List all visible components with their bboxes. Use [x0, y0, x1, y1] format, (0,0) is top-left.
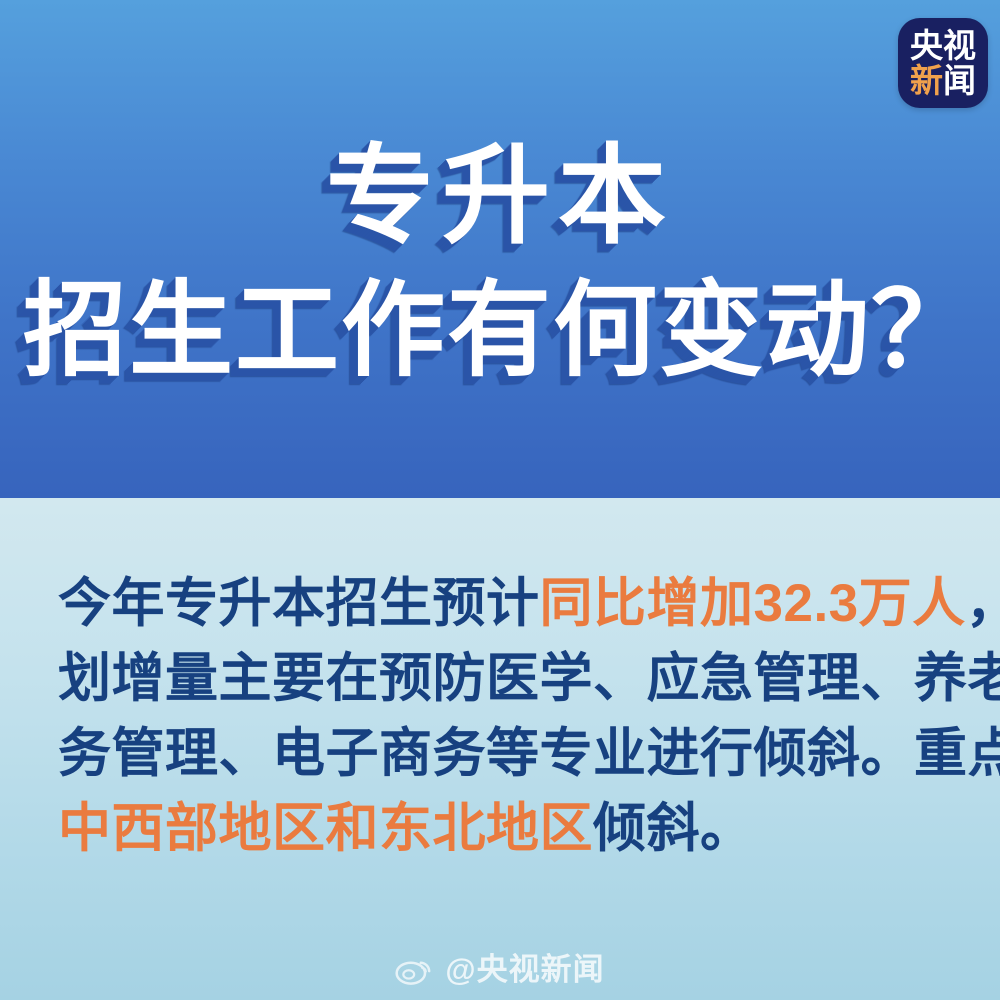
body-plain-text: 倾斜。: [593, 799, 754, 858]
body-plain-text: 务管理、电子商务等专业进行倾斜。重点向: [58, 724, 1000, 783]
body-line-4: 中西部地区和东北地区倾斜。: [58, 791, 958, 866]
watermark: @央视新闻: [0, 952, 1000, 986]
logo-text-xin: 新: [910, 64, 943, 97]
cctv-news-logo[interactable]: 央视 新 闻: [898, 18, 988, 108]
body-plain-text: ，计: [966, 574, 1000, 633]
logo-text-yangshi: 央视: [910, 29, 976, 62]
body-section: 今年专升本招生预计同比增加32.3万人，计划增量主要在预防医学、应急管理、养老服…: [0, 498, 1000, 1000]
body-highlight-text: 同比增加32.3万人: [540, 574, 966, 633]
headline-line-1: 专升本: [326, 136, 674, 257]
body-line-3: 务管理、电子商务等专业进行倾斜。重点向: [58, 716, 958, 791]
poster-canvas: 专升本 招生工作有何变动？ 央视 新 闻 今年专升本招生预计同比增加32.3万人…: [0, 0, 1000, 1000]
logo-bottom-row: 新 闻: [910, 64, 976, 97]
logo-top-row: 央视: [910, 29, 976, 62]
headline-line-2: 招生工作有何变动？: [23, 273, 977, 389]
body-paragraph: 今年专升本招生预计同比增加32.3万人，计划增量主要在预防医学、应急管理、养老服…: [58, 566, 958, 866]
body-plain-text: 划增量主要在预防医学、应急管理、养老服: [58, 649, 1000, 708]
watermark-label: @央视新闻: [445, 954, 604, 985]
body-plain-text: 今年专升本招生预计: [58, 574, 540, 633]
logo-text-wen: 闻: [943, 64, 976, 97]
weibo-icon: [395, 952, 435, 986]
headline-block: 专升本 招生工作有何变动？: [0, 0, 1000, 498]
hero-section: 专升本 招生工作有何变动？ 央视 新 闻: [0, 0, 1000, 498]
body-highlight-text: 中西部地区和东北地区: [58, 799, 593, 858]
body-line-2: 划增量主要在预防医学、应急管理、养老服: [58, 641, 958, 716]
body-line-1: 今年专升本招生预计同比增加32.3万人，计: [58, 566, 958, 641]
